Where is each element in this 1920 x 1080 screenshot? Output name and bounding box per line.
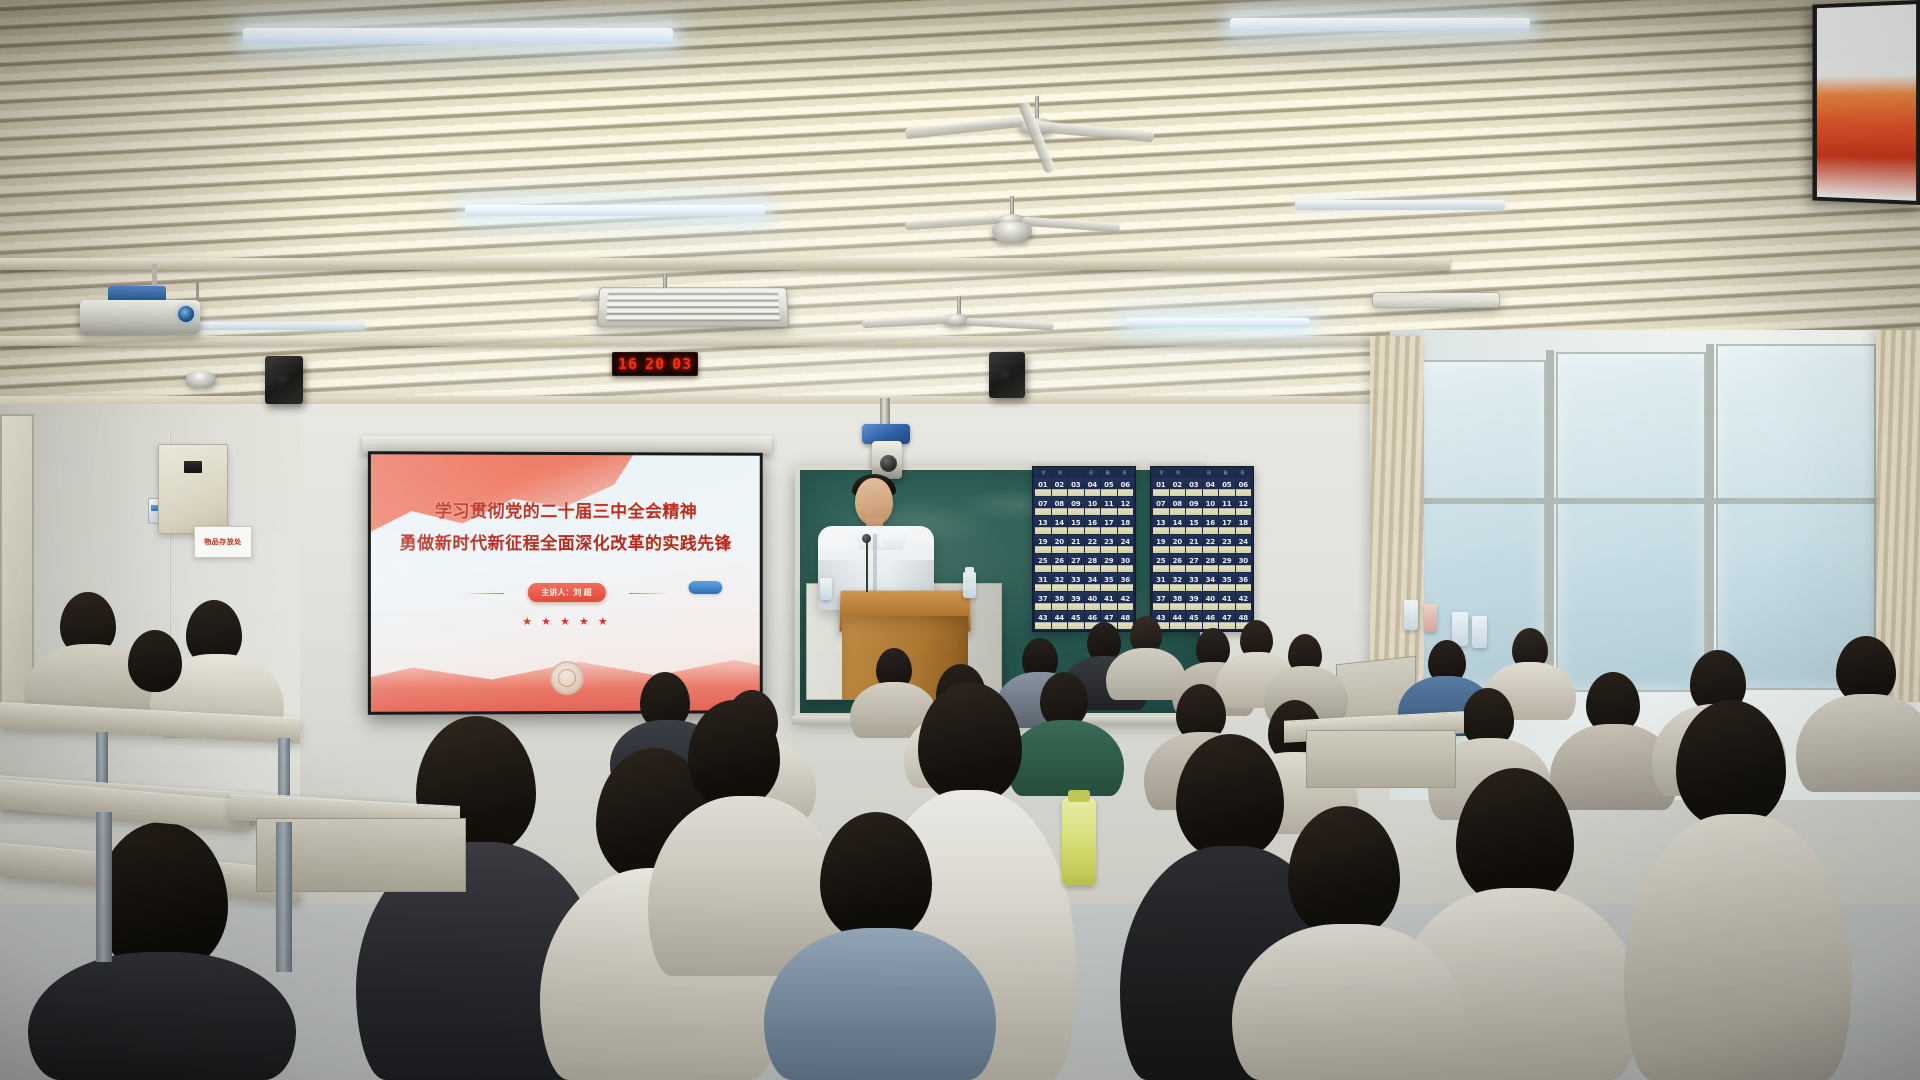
phone-pocket[interactable]: 07 xyxy=(1035,497,1051,515)
phone-pocket[interactable]: 13 xyxy=(1153,516,1169,534)
phone-pocket[interactable]: 06 xyxy=(1118,478,1134,496)
phone-pocket[interactable]: 07 xyxy=(1153,497,1169,515)
phone-pocket[interactable]: 40 xyxy=(1085,592,1101,610)
water-bottle-podium xyxy=(963,572,976,598)
pocket-grid-left: 0102030405060708091011121314151617181920… xyxy=(1035,478,1133,629)
slide-rule-right xyxy=(629,593,669,594)
phone-pocket[interactable]: 34 xyxy=(1085,573,1101,591)
phone-pocket[interactable]: 35 xyxy=(1219,573,1235,591)
phone-pocket-number: 19 xyxy=(1156,538,1165,546)
phone-pocket-number: 23 xyxy=(1104,538,1113,546)
audience-body-front-7 xyxy=(28,952,296,1080)
desk-leg-front-2 xyxy=(276,822,292,972)
phone-pocket[interactable]: 31 xyxy=(1153,573,1169,591)
phone-pocket[interactable]: 22 xyxy=(1203,535,1219,553)
phone-pocket[interactable]: 06 xyxy=(1236,478,1252,496)
pocket-board-header-right: 学 科 · 班 级 表 xyxy=(1153,469,1251,478)
phone-pocket[interactable]: 18 xyxy=(1118,516,1134,534)
phone-pocket[interactable]: 17 xyxy=(1219,516,1235,534)
phone-pocket[interactable]: 22 xyxy=(1085,535,1101,553)
phone-pocket-number: 36 xyxy=(1121,576,1130,584)
phone-pocket[interactable]: 30 xyxy=(1118,554,1134,572)
phone-pocket-board-left[interactable]: 学 科 · 班 级 表 0102030405060708091011121314… xyxy=(1032,466,1136,632)
phone-pocket-number: 13 xyxy=(1156,519,1165,527)
wall-mounted-display[interactable] xyxy=(1812,0,1920,205)
led-wall-clock: 16 20 03 xyxy=(612,352,698,376)
phone-pocket[interactable]: 01 xyxy=(1035,478,1051,496)
phone-pocket-number: 44 xyxy=(1055,614,1064,622)
phone-pocket[interactable]: 48 xyxy=(1118,611,1134,629)
phone-pocket[interactable]: 14 xyxy=(1170,516,1186,534)
phone-pocket-number: 32 xyxy=(1055,576,1064,584)
phone-pocket[interactable]: 39 xyxy=(1186,592,1202,610)
phone-pocket[interactable]: 23 xyxy=(1101,535,1117,553)
phone-pocket-number: 31 xyxy=(1156,576,1165,584)
phone-pocket-number: 21 xyxy=(1071,538,1080,546)
phone-pocket[interactable]: 28 xyxy=(1085,554,1101,572)
phone-pocket-number: 02 xyxy=(1173,481,1182,489)
phone-pocket[interactable]: 01 xyxy=(1153,478,1169,496)
air-conditioner-unit-2 xyxy=(1372,292,1500,308)
phone-pocket[interactable]: 02 xyxy=(1170,478,1186,496)
pocket-head-cell: 学 xyxy=(1159,470,1163,476)
phone-pocket-number: 22 xyxy=(1088,538,1097,546)
phone-pocket-number: 12 xyxy=(1121,500,1130,508)
phone-pocket[interactable]: 37 xyxy=(1153,592,1169,610)
phone-pocket-number: 07 xyxy=(1156,500,1165,508)
phone-pocket-number: 30 xyxy=(1121,557,1130,565)
microphone-stand xyxy=(866,540,868,592)
phone-pocket-number: 27 xyxy=(1189,557,1198,565)
phone-pocket[interactable]: 16 xyxy=(1085,516,1101,534)
phone-pocket[interactable]: 04 xyxy=(1085,478,1101,496)
phone-pocket-number: 43 xyxy=(1156,614,1165,622)
fire-cabinet-icon xyxy=(184,461,202,473)
storage-notice-text: 物品存放处 xyxy=(204,537,242,547)
phone-pocket-number: 21 xyxy=(1189,538,1198,546)
phone-pocket-number: 05 xyxy=(1222,481,1231,489)
phone-pocket-number: 04 xyxy=(1088,481,1097,489)
phone-pocket[interactable]: 03 xyxy=(1068,478,1084,496)
phone-pocket[interactable]: 11 xyxy=(1219,497,1235,515)
phone-pocket-number: 23 xyxy=(1222,538,1231,546)
phone-pocket-number: 26 xyxy=(1055,557,1064,565)
phone-pocket-number: 08 xyxy=(1173,500,1182,508)
microphone-head xyxy=(862,534,871,543)
window-pane-3 xyxy=(1716,344,1876,690)
slide-stars: ★ ★ ★ ★ ★ xyxy=(522,615,610,628)
phone-pocket-number: 18 xyxy=(1121,519,1130,527)
phone-pocket[interactable]: 30 xyxy=(1236,554,1252,572)
phone-pocket[interactable]: 40 xyxy=(1203,592,1219,610)
phone-pocket-number: 40 xyxy=(1206,595,1215,603)
phone-pocket[interactable]: 41 xyxy=(1101,592,1117,610)
phone-pocket-number: 15 xyxy=(1071,519,1080,527)
phone-pocket-number: 38 xyxy=(1055,595,1064,603)
slide-title-line2: 勇做新时代新征程全面深化改革的实践先锋 xyxy=(371,529,760,555)
slide-rule-left xyxy=(464,593,504,594)
slide-emblem xyxy=(549,661,583,695)
projector-cable xyxy=(196,282,199,300)
foreground-bottle-cap xyxy=(1068,790,1090,802)
phone-pocket-number: 25 xyxy=(1038,557,1047,565)
pocket-head-cell: 科 xyxy=(1058,470,1062,476)
phone-pocket[interactable]: 25 xyxy=(1153,554,1169,572)
phone-pocket-number: 17 xyxy=(1222,519,1231,527)
phone-pocket[interactable]: 26 xyxy=(1170,554,1186,572)
phone-pocket-number: 15 xyxy=(1189,519,1198,527)
phone-pocket-number: 09 xyxy=(1189,500,1198,508)
phone-pocket-number: 39 xyxy=(1189,595,1198,603)
phone-pocket-number: 20 xyxy=(1173,538,1182,546)
phone-pocket[interactable]: 29 xyxy=(1219,554,1235,572)
phone-pocket[interactable]: 21 xyxy=(1068,535,1084,553)
pocket-head-cell: 表 xyxy=(1241,470,1245,476)
phone-pocket-number: 30 xyxy=(1239,557,1248,565)
phone-pocket-number: 32 xyxy=(1173,576,1182,584)
projection-screen[interactable]: 学习贯彻党的二十届三中全会精神 勇做新时代新征程全面深化改革的实践先锋 主讲人：… xyxy=(368,451,763,715)
light-tube-1 xyxy=(243,28,673,44)
pocket-head-cell: 级 xyxy=(1224,470,1228,476)
clock-hours: 16 xyxy=(618,355,638,373)
phone-pocket[interactable]: 31 xyxy=(1035,573,1051,591)
phone-pocket[interactable]: 35 xyxy=(1101,573,1117,591)
phone-pocket-number: 17 xyxy=(1104,519,1113,527)
phone-pocket[interactable]: 19 xyxy=(1035,535,1051,553)
pocket-head-cell: 班 xyxy=(1207,470,1211,476)
phone-pocket[interactable]: 20 xyxy=(1052,535,1068,553)
phone-pocket-number: 37 xyxy=(1038,595,1047,603)
phone-pocket-number: 42 xyxy=(1239,595,1248,603)
phone-pocket-number: 24 xyxy=(1239,538,1248,546)
wall-speaker-right xyxy=(989,352,1025,398)
phone-pocket[interactable]: 26 xyxy=(1052,554,1068,572)
pocket-head-cell: 表 xyxy=(1123,470,1127,476)
light-tube-3 xyxy=(465,205,765,216)
pocket-board-header-left: 学 科 · 班 级 表 xyxy=(1035,469,1133,478)
phone-pocket[interactable]: 44 xyxy=(1170,611,1186,629)
phone-pocket-number: 39 xyxy=(1071,595,1080,603)
desk-panel-right-1 xyxy=(1306,730,1456,788)
phone-pocket[interactable]: 09 xyxy=(1186,497,1202,515)
phone-pocket[interactable]: 42 xyxy=(1118,592,1134,610)
phone-pocket[interactable]: 33 xyxy=(1186,573,1202,591)
phone-pocket-number: 11 xyxy=(1104,500,1113,508)
phone-pocket-number: 20 xyxy=(1055,538,1064,546)
phone-pocket-number: 19 xyxy=(1038,538,1047,546)
bottle-right-4 xyxy=(1472,616,1487,648)
phone-pocket[interactable]: 32 xyxy=(1170,573,1186,591)
phone-pocket[interactable]: 24 xyxy=(1236,535,1252,553)
window-pane-2 xyxy=(1556,352,1706,692)
phone-pocket[interactable]: 08 xyxy=(1170,497,1186,515)
phone-pocket-number: 11 xyxy=(1222,500,1231,508)
phone-pocket[interactable]: 34 xyxy=(1203,573,1219,591)
bottle-right-3 xyxy=(1452,612,1468,646)
projector-lens xyxy=(178,306,194,322)
phone-pocket[interactable]: 16 xyxy=(1203,516,1219,534)
fire-equipment-cabinet xyxy=(158,444,228,534)
phone-pocket[interactable]: 12 xyxy=(1236,497,1252,515)
phone-pocket-number: 01 xyxy=(1038,481,1047,489)
phone-pocket-number: 06 xyxy=(1121,481,1130,489)
phone-pocket[interactable]: 23 xyxy=(1219,535,1235,553)
phone-pocket[interactable]: 25 xyxy=(1035,554,1051,572)
phone-pocket[interactable]: 36 xyxy=(1118,573,1134,591)
phone-pocket[interactable]: 46 xyxy=(1203,611,1219,629)
phone-pocket-number: 46 xyxy=(1088,614,1097,622)
ceiling-beam-mid xyxy=(0,336,1530,346)
phone-pocket[interactable]: 41 xyxy=(1219,592,1235,610)
phone-pocket-number: 36 xyxy=(1239,576,1248,584)
phone-pocket[interactable]: 13 xyxy=(1035,516,1051,534)
phone-pocket-number: 05 xyxy=(1104,481,1113,489)
dome-camera-ceiling xyxy=(992,222,1032,242)
phone-pocket[interactable]: 47 xyxy=(1219,611,1235,629)
desk-leg-front-1 xyxy=(96,812,112,962)
phone-pocket-number: 41 xyxy=(1104,595,1113,603)
phone-pocket-number: 34 xyxy=(1088,576,1097,584)
foreground-water-bottle xyxy=(1062,798,1096,886)
pocket-head-cell: 班 xyxy=(1089,470,1093,476)
phone-pocket[interactable]: 20 xyxy=(1170,535,1186,553)
phone-pocket-number: 43 xyxy=(1038,614,1047,622)
phone-pocket[interactable]: 08 xyxy=(1052,497,1068,515)
phone-pocket-number: 47 xyxy=(1104,614,1113,622)
left-door-frame xyxy=(0,414,34,714)
phone-pocket-number: 47 xyxy=(1222,614,1231,622)
phone-pocket-number: 45 xyxy=(1071,614,1080,622)
phone-pocket[interactable]: 42 xyxy=(1236,592,1252,610)
phone-pocket[interactable]: 17 xyxy=(1101,516,1117,534)
phone-pocket-number: 06 xyxy=(1239,481,1248,489)
phone-pocket-board-right[interactable]: 学 科 · 班 级 表 0102030405060708091011121314… xyxy=(1150,466,1254,632)
phone-pocket[interactable]: 45 xyxy=(1186,611,1202,629)
phone-pocket-number: 46 xyxy=(1206,614,1215,622)
phone-pocket[interactable]: 19 xyxy=(1153,535,1169,553)
phone-pocket[interactable]: 15 xyxy=(1068,516,1084,534)
water-bottle-cap xyxy=(965,567,974,573)
phone-pocket[interactable]: 43 xyxy=(1035,611,1051,629)
ceiling-beam-front xyxy=(0,258,1450,270)
phone-pocket-number: 48 xyxy=(1121,614,1130,622)
phone-pocket-number: 29 xyxy=(1104,557,1113,565)
left-wall xyxy=(0,404,300,824)
phone-pocket-number: 24 xyxy=(1121,538,1130,546)
phone-pocket[interactable]: 27 xyxy=(1186,554,1202,572)
phone-pocket-number: 14 xyxy=(1055,519,1064,527)
phone-pocket[interactable]: 10 xyxy=(1203,497,1219,515)
phone-pocket-number: 31 xyxy=(1038,576,1047,584)
window-transom xyxy=(1402,498,1882,504)
ac-louvers-1 xyxy=(606,293,780,322)
dome-camera-left xyxy=(186,372,216,387)
phone-pocket-number: 44 xyxy=(1173,614,1182,622)
phone-pocket[interactable]: 39 xyxy=(1068,592,1084,610)
water-bottle-left xyxy=(820,578,832,600)
phone-pocket-number: 27 xyxy=(1071,557,1080,565)
phone-pocket-number: 41 xyxy=(1222,595,1231,603)
pocket-head-cell: 学 xyxy=(1041,470,1045,476)
phone-pocket[interactable]: 03 xyxy=(1186,478,1202,496)
phone-pocket-number: 10 xyxy=(1206,500,1215,508)
phone-pocket[interactable]: 02 xyxy=(1052,478,1068,496)
phone-pocket-number: 25 xyxy=(1156,557,1165,565)
phone-pocket-number: 13 xyxy=(1038,519,1047,527)
ptz-camera-lens xyxy=(880,455,897,472)
storage-notice-sign[interactable]: 物品存放处 xyxy=(194,526,252,558)
phone-pocket-number: 18 xyxy=(1239,519,1248,527)
phone-pocket-number: 37 xyxy=(1156,595,1165,603)
bottle-right-2 xyxy=(1424,604,1437,632)
phone-pocket-number: 04 xyxy=(1206,481,1215,489)
phone-pocket-number: 40 xyxy=(1088,595,1097,603)
phone-pocket-number: 38 xyxy=(1173,595,1182,603)
phone-pocket-number: 12 xyxy=(1239,500,1248,508)
phone-pocket[interactable]: 27 xyxy=(1068,554,1084,572)
phone-pocket[interactable]: 21 xyxy=(1186,535,1202,553)
light-tube-4 xyxy=(193,322,365,330)
phone-pocket[interactable]: 12 xyxy=(1118,497,1134,515)
pocket-head-cell: · xyxy=(1193,470,1194,476)
phone-pocket[interactable]: 45 xyxy=(1068,611,1084,629)
phone-pocket-number: 16 xyxy=(1088,519,1097,527)
phone-pocket[interactable]: 38 xyxy=(1170,592,1186,610)
audience-body-mid-4 xyxy=(1008,720,1124,796)
clock-seconds: 03 xyxy=(672,355,692,373)
slide-presenter-badge: 主讲人：刘 超 xyxy=(527,583,605,602)
phone-pocket[interactable]: 37 xyxy=(1035,592,1051,610)
phone-pocket-number: 16 xyxy=(1206,519,1215,527)
phone-pocket[interactable]: 05 xyxy=(1219,478,1235,496)
phone-pocket[interactable]: 36 xyxy=(1236,573,1252,591)
clock-minutes: 20 xyxy=(645,355,665,373)
wall-speaker-left xyxy=(265,356,303,404)
phone-pocket[interactable]: 38 xyxy=(1052,592,1068,610)
phone-pocket-number: 48 xyxy=(1239,614,1248,622)
phone-pocket-number: 22 xyxy=(1206,538,1215,546)
phone-pocket-number: 03 xyxy=(1071,481,1080,489)
phone-pocket[interactable]: 09 xyxy=(1068,497,1084,515)
slide-title-line1: 学习贯彻党的二十届三中全会精神 xyxy=(371,496,760,522)
light-tube-6 xyxy=(1295,200,1505,210)
phone-pocket[interactable]: 28 xyxy=(1203,554,1219,572)
window-mullion-2 xyxy=(1706,344,1714,694)
air-conditioner-unit-1 xyxy=(597,287,789,327)
phone-pocket-number: 29 xyxy=(1222,557,1231,565)
phone-pocket-number: 45 xyxy=(1189,614,1198,622)
phone-pocket-number: 33 xyxy=(1189,576,1198,584)
phone-pocket[interactable]: 11 xyxy=(1101,497,1117,515)
phone-pocket-number: 35 xyxy=(1222,576,1231,584)
phone-pocket-number: 09 xyxy=(1071,500,1080,508)
phone-pocket-number: 34 xyxy=(1206,576,1215,584)
phone-pocket-number: 10 xyxy=(1088,500,1097,508)
light-tube-2 xyxy=(1230,18,1530,31)
presentation-slide: 学习贯彻党的二十届三中全会精神 勇做新时代新征程全面深化改革的实践先锋 主讲人：… xyxy=(371,454,760,712)
slide-logo-chip xyxy=(688,581,722,594)
phone-pocket-number: 07 xyxy=(1038,500,1047,508)
phone-pocket-number: 28 xyxy=(1088,557,1097,565)
phone-pocket[interactable]: 29 xyxy=(1101,554,1117,572)
window-mullion-1 xyxy=(1546,350,1554,695)
pocket-grid-right: 0102030405060708091011121314151617181920… xyxy=(1153,478,1251,629)
phone-pocket[interactable]: 18 xyxy=(1236,516,1252,534)
phone-pocket[interactable]: 15 xyxy=(1186,516,1202,534)
phone-pocket[interactable]: 10 xyxy=(1085,497,1101,515)
pocket-head-cell: 级 xyxy=(1106,470,1110,476)
phone-pocket-number: 33 xyxy=(1071,576,1080,584)
phone-pocket-number: 08 xyxy=(1055,500,1064,508)
phone-pocket[interactable]: 04 xyxy=(1203,478,1219,496)
phone-pocket-number: 35 xyxy=(1104,576,1113,584)
phone-pocket-number: 26 xyxy=(1173,557,1182,565)
phone-pocket-number: 28 xyxy=(1206,557,1215,565)
pocket-head-cell: 科 xyxy=(1176,470,1180,476)
phone-pocket[interactable]: 44 xyxy=(1052,611,1068,629)
pocket-head-cell: · xyxy=(1075,470,1076,476)
phone-pocket[interactable]: 14 xyxy=(1052,516,1068,534)
phone-pocket-number: 03 xyxy=(1189,481,1198,489)
phone-pocket-number: 42 xyxy=(1121,595,1130,603)
phone-pocket-number: 02 xyxy=(1055,481,1064,489)
phone-pocket[interactable]: 24 xyxy=(1118,535,1134,553)
classroom-photo-scene: 物品存放处 学习贯彻党的二十届三中全会精神 勇做新时代新征程全面深化改革的实践先… xyxy=(0,0,1920,1080)
phone-pocket-number: 14 xyxy=(1173,519,1182,527)
bottle-right-1 xyxy=(1404,600,1418,630)
phone-pocket[interactable]: 33 xyxy=(1068,573,1084,591)
phone-pocket[interactable]: 05 xyxy=(1101,478,1117,496)
light-tube-5 xyxy=(1125,318,1310,327)
phone-pocket[interactable]: 32 xyxy=(1052,573,1068,591)
phone-pocket-number: 01 xyxy=(1156,481,1165,489)
audience-head-far-12 xyxy=(128,630,182,692)
